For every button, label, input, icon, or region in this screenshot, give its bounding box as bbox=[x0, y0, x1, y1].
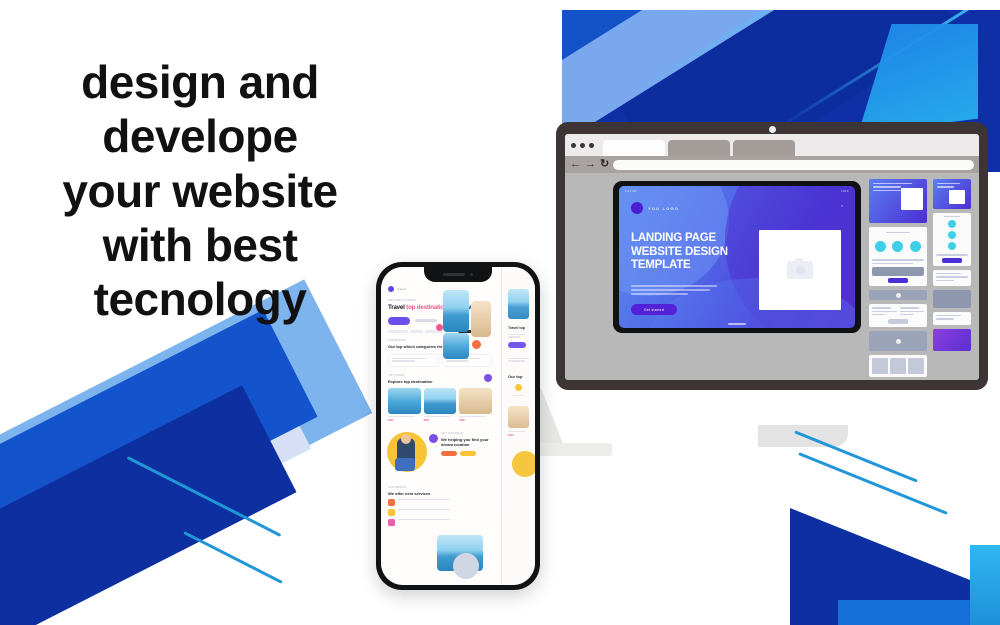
wireframe-line bbox=[872, 307, 891, 308]
tablet-mockup: 9:41 AM 100% YOU LOGO ≡ LANDING PAGE WEB… bbox=[613, 181, 861, 333]
landing-subtext bbox=[631, 285, 717, 298]
hero-photo-3 bbox=[443, 333, 469, 359]
landing-heading: LANDING PAGE WEBSITE DESIGN TEMPLATE bbox=[631, 232, 743, 273]
wireframe-button[interactable] bbox=[888, 278, 909, 283]
status-battery: 100% bbox=[841, 190, 849, 193]
avatar bbox=[453, 553, 479, 579]
arrow-right-icon[interactable]: → bbox=[585, 159, 596, 170]
site-logo-icon bbox=[388, 286, 394, 292]
text-line bbox=[446, 360, 469, 361]
wireframe-line bbox=[936, 280, 954, 281]
browser-nav-bar: ← → ↻ bbox=[565, 156, 979, 173]
destination-title bbox=[424, 416, 450, 417]
destination-title bbox=[388, 416, 414, 417]
categories-section: OUR SERVICE Our top which categories for… bbox=[381, 333, 499, 367]
landing-heading-line-1: LANDING PAGE bbox=[631, 232, 743, 246]
logo-text: YOU LOGO bbox=[648, 206, 679, 211]
helping-kicker: WHY CHOOSE US bbox=[441, 432, 493, 435]
home-indicator bbox=[728, 323, 746, 325]
cyan-streak-icon bbox=[681, 10, 937, 23]
badge-icon bbox=[436, 324, 443, 331]
phone-notch bbox=[424, 267, 492, 282]
destination-card[interactable]: $520 bbox=[424, 388, 457, 422]
service-item[interactable] bbox=[388, 509, 492, 516]
hero-heading-part-1: Travel bbox=[388, 304, 406, 311]
wireframe-column-primary bbox=[869, 179, 927, 377]
circle-icon bbox=[892, 241, 903, 252]
circle-icon bbox=[948, 220, 956, 228]
bottom-left-band-pale bbox=[0, 395, 311, 598]
destination-title bbox=[459, 416, 485, 417]
wireframe-icon-row bbox=[872, 237, 924, 256]
wireframe-image-placeholder bbox=[901, 188, 923, 210]
status-bar: 9:41 AM 100% bbox=[625, 190, 849, 193]
book-now-button[interactable] bbox=[388, 317, 410, 325]
cyan-line-icon bbox=[183, 531, 282, 584]
camera-dot-icon bbox=[470, 273, 474, 277]
bottom-left-band-dark bbox=[0, 385, 297, 625]
wireframe-line bbox=[937, 183, 960, 184]
get-started-button[interactable]: Get started bbox=[631, 304, 677, 315]
stat-chip bbox=[441, 451, 457, 456]
window-controls[interactable] bbox=[571, 134, 600, 156]
circle-icon bbox=[948, 231, 956, 239]
wireframe-block bbox=[933, 290, 971, 308]
price-label: $450 bbox=[508, 434, 529, 437]
cyan-streak-icon bbox=[771, 10, 976, 133]
thumbnail-icon bbox=[872, 358, 888, 374]
wireframe-line bbox=[872, 311, 897, 312]
cta-button[interactable] bbox=[508, 342, 526, 348]
text-line bbox=[508, 358, 529, 359]
bottom-left-band-mid bbox=[0, 310, 318, 612]
poster-canvas: design and develope your website with be… bbox=[0, 0, 1000, 625]
site-logo-text: travel bbox=[397, 287, 406, 291]
hero-heading-highlight: top bbox=[406, 304, 415, 311]
bottom-right-cyan-panel bbox=[970, 545, 1000, 625]
wireframe-line bbox=[872, 263, 913, 264]
wireframe-small-card bbox=[933, 312, 971, 325]
status-time: 9:41 AM bbox=[625, 190, 637, 193]
browser-tab-bar bbox=[565, 134, 979, 156]
logo-mark-icon bbox=[631, 202, 643, 214]
desktop-monitor-mockup: ← → ↻ 9:41 AM 100% bbox=[556, 122, 988, 390]
bottom-right-dark-shape bbox=[790, 508, 1000, 625]
service-item[interactable] bbox=[388, 499, 492, 506]
headline-line-4: with best bbox=[0, 218, 400, 272]
wireframe-image-placeholder bbox=[949, 190, 965, 204]
wireframe-line bbox=[873, 183, 912, 184]
browser-viewport: 9:41 AM 100% YOU LOGO ≡ LANDING PAGE WEB… bbox=[565, 173, 979, 380]
circle-icon bbox=[515, 384, 522, 391]
maximize-dot-icon[interactable] bbox=[589, 143, 594, 148]
wireframe-cta-band bbox=[869, 290, 927, 300]
wireframe-line bbox=[900, 314, 913, 315]
headline-line-2: develope bbox=[0, 109, 400, 163]
destination-photo bbox=[388, 388, 421, 414]
text-line bbox=[513, 395, 525, 396]
thumbnail-icon bbox=[908, 358, 924, 374]
wireframe-line bbox=[936, 318, 954, 319]
thumbnail-icon bbox=[890, 358, 906, 374]
cyan-line-icon bbox=[127, 456, 282, 537]
browser-tab-2[interactable] bbox=[668, 140, 730, 156]
minimize-dot-icon[interactable] bbox=[580, 143, 585, 148]
text-line bbox=[508, 431, 525, 432]
wireframe-block bbox=[872, 267, 924, 276]
wireframe-line bbox=[873, 186, 901, 187]
headline-line-1: design and bbox=[0, 55, 400, 109]
close-dot-icon[interactable] bbox=[571, 143, 576, 148]
arrow-left-icon[interactable]: ← bbox=[570, 159, 581, 170]
speaker-icon bbox=[443, 273, 465, 276]
browser-tab-3[interactable] bbox=[733, 140, 795, 156]
cyan-streak-icon bbox=[621, 10, 902, 103]
destination-price: $520 bbox=[424, 419, 457, 422]
secondary-page-layer: Travel top Our top $450 bbox=[501, 267, 535, 585]
phone-body: Travel top Our top $450 bbox=[376, 262, 540, 590]
text-line bbox=[508, 334, 525, 335]
page-title: design and develope your website with be… bbox=[0, 55, 400, 326]
camera-icon bbox=[787, 261, 813, 279]
photo-thumbnail bbox=[508, 406, 529, 428]
bottom-left-band-light bbox=[0, 279, 372, 603]
watch-video-button[interactable] bbox=[415, 319, 437, 322]
landing-logo[interactable]: YOU LOGO bbox=[631, 202, 679, 214]
wireframe-purple-card bbox=[933, 329, 971, 351]
phone-screen: Travel top Our top $450 bbox=[381, 267, 535, 585]
text-line bbox=[398, 499, 450, 500]
services-kicker: OUR SERVICE bbox=[388, 486, 492, 489]
circle-icon bbox=[948, 242, 956, 250]
destination-photo bbox=[459, 388, 492, 414]
phone-mockup: Travel top Our top $450 bbox=[376, 262, 540, 590]
text-line bbox=[508, 336, 520, 337]
dot-icon bbox=[896, 339, 901, 344]
text-line bbox=[392, 358, 426, 359]
wireframe-thumbnail-row bbox=[869, 355, 927, 377]
category-cards bbox=[388, 354, 492, 367]
stat-chip bbox=[460, 451, 476, 456]
wireframe-line bbox=[936, 276, 968, 277]
circle-icon bbox=[875, 241, 886, 252]
primary-page-layer: travel WELCOME TO TRAVEL Travel top dest… bbox=[381, 267, 499, 585]
illustration-section: WHY CHOOSE US We helping you find your d… bbox=[381, 430, 499, 480]
wireframe-button[interactable] bbox=[942, 258, 961, 263]
explore-section: TOP PLACES Explore top destination $450 bbox=[381, 367, 499, 422]
text-line bbox=[392, 360, 415, 361]
wireframe-line bbox=[936, 254, 968, 255]
traveler-legs bbox=[395, 458, 415, 471]
browser-tab-active[interactable] bbox=[603, 140, 665, 156]
services-section: OUR SERVICE We offer next services bbox=[381, 480, 499, 526]
wireframe-hero-card bbox=[933, 179, 971, 209]
wireframe-text-columns-card bbox=[869, 304, 927, 327]
service-icon bbox=[388, 519, 395, 526]
photo-thumbnail bbox=[508, 289, 529, 319]
wireframe-line bbox=[936, 273, 961, 274]
destination-card[interactable]: $380 bbox=[459, 388, 492, 422]
wireframe-line bbox=[900, 307, 919, 308]
destination-cards: $450 $520 $380 bbox=[388, 388, 492, 422]
destination-price: $380 bbox=[459, 419, 492, 422]
wireframe-line bbox=[872, 314, 885, 315]
text-line bbox=[398, 509, 450, 510]
wireframe-hero-card bbox=[869, 179, 927, 223]
image-placeholder bbox=[759, 230, 841, 310]
thumbnail-group bbox=[872, 358, 924, 374]
landing-heading-line-2: WEBSITE DESIGN bbox=[631, 246, 743, 260]
wireframe-column-secondary bbox=[933, 179, 971, 351]
destination-price: $450 bbox=[388, 419, 421, 422]
service-icon bbox=[388, 509, 395, 516]
accent-circle-icon bbox=[429, 434, 438, 443]
wireframe-line bbox=[900, 311, 925, 312]
wireframe-list-card bbox=[933, 270, 971, 286]
service-item[interactable] bbox=[388, 519, 492, 526]
bottom-right-mid-shape bbox=[838, 600, 1000, 625]
wireframe-line bbox=[944, 216, 960, 217]
headline-line-3: your website bbox=[0, 164, 400, 218]
monitor-screen: ← → ↻ 9:41 AM 100% bbox=[565, 134, 979, 380]
monitor-bezel: ← → ↻ 9:41 AM 100% bbox=[556, 122, 988, 390]
secondary-heading: Travel top bbox=[508, 326, 529, 331]
category-card[interactable] bbox=[388, 354, 439, 367]
wireframe-line bbox=[937, 186, 954, 187]
wireframe-line bbox=[873, 190, 901, 191]
hero-photo-1 bbox=[443, 290, 469, 332]
helping-title: We helping you find your dream location bbox=[441, 437, 493, 447]
text-line bbox=[398, 519, 450, 520]
explore-title: Explore top destination bbox=[388, 379, 432, 384]
yellow-circle-decoration bbox=[512, 451, 535, 477]
landing-page-preview: 9:41 AM 100% YOU LOGO ≡ LANDING PAGE WEB… bbox=[619, 186, 855, 328]
wireframe-line bbox=[936, 315, 961, 316]
more-options-icon[interactable] bbox=[484, 374, 492, 382]
explore-kicker: TOP PLACES bbox=[388, 374, 432, 377]
filter-chip[interactable] bbox=[388, 330, 408, 334]
wireframe-features-card bbox=[869, 227, 927, 286]
hero-photo-2 bbox=[471, 301, 491, 337]
wireframe-line bbox=[886, 232, 909, 233]
wireframe-button[interactable] bbox=[888, 319, 909, 324]
destination-card[interactable]: $450 bbox=[388, 388, 421, 422]
wireframe-features-card bbox=[933, 213, 971, 266]
destination-photo bbox=[424, 388, 457, 414]
headline-line-5: tecnology bbox=[0, 272, 400, 326]
url-input[interactable] bbox=[613, 160, 974, 170]
reload-icon[interactable]: ↻ bbox=[600, 159, 609, 170]
traveler-head bbox=[401, 434, 411, 444]
hamburger-menu-icon[interactable]: ≡ bbox=[841, 204, 843, 208]
badge-icon bbox=[472, 340, 481, 349]
secondary-heading-2: Our top bbox=[508, 374, 529, 379]
cyan-corner-panel bbox=[858, 24, 978, 134]
services-title: We offer next services bbox=[388, 491, 492, 496]
dot-icon bbox=[896, 293, 901, 298]
service-icon bbox=[388, 499, 395, 506]
circle-icon bbox=[910, 241, 921, 252]
landing-heading-line-3: TEMPLATE bbox=[631, 259, 743, 273]
text-line bbox=[508, 360, 525, 361]
filter-chip[interactable] bbox=[410, 330, 423, 334]
webcam-icon bbox=[769, 126, 776, 133]
wireframe-line bbox=[872, 259, 924, 260]
wireframe-carousel bbox=[869, 331, 927, 351]
